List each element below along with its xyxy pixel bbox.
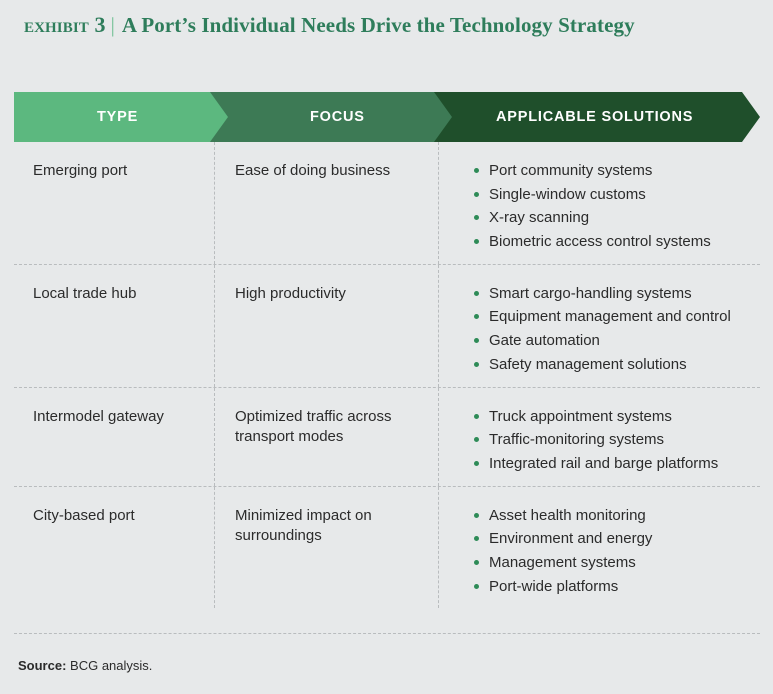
list-item: Smart cargo-handling systems	[474, 282, 752, 306]
source-note: Source: BCG analysis.	[18, 658, 152, 673]
list-item: Integrated rail and barge platforms	[474, 452, 752, 476]
title-separator: |	[111, 13, 115, 38]
column-header-type: TYPE	[14, 92, 228, 142]
cell-focus: Optimized traffic across transport modes	[214, 388, 438, 458]
cell-focus: High productivity	[214, 265, 438, 314]
cell-focus: Ease of doing business	[214, 142, 438, 191]
cell-type: City-based port	[14, 487, 214, 536]
solutions-list: Smart cargo-handling systems Equipment m…	[474, 282, 752, 377]
list-item: Biometric access control systems	[474, 230, 752, 254]
solutions-list: Truck appointment systems Traffic-monito…	[474, 405, 752, 476]
column-header-focus-label: FOCUS	[310, 109, 365, 125]
solutions-list: Port community systems Single-window cus…	[474, 159, 752, 254]
exhibit-table: Emerging port Ease of doing business Por…	[14, 142, 760, 608]
column-header-focus: FOCUS	[210, 92, 452, 142]
table-row: City-based port Minimized impact on surr…	[14, 486, 760, 609]
cell-solutions: Smart cargo-handling systems Equipment m…	[438, 265, 760, 387]
list-item: Traffic-monitoring systems	[474, 428, 752, 452]
table-row: Local trade hub High productivity Smart …	[14, 264, 760, 387]
cell-solutions: Asset health monitoring Environment and …	[438, 487, 760, 609]
list-item: Port-wide platforms	[474, 575, 752, 599]
table-row: Emerging port Ease of doing business Por…	[14, 142, 760, 264]
list-item: Equipment management and control	[474, 305, 752, 329]
list-item: Gate automation	[474, 329, 752, 353]
list-item: X-ray scanning	[474, 206, 752, 230]
list-item: Port community systems	[474, 159, 752, 183]
source-label: Source:	[18, 658, 66, 673]
list-item: Environment and energy	[474, 527, 752, 551]
cell-type: Intermodel gateway	[14, 388, 214, 437]
list-item: Safety management solutions	[474, 353, 752, 377]
source-text: BCG analysis.	[70, 658, 152, 673]
page-title: Exhibit 3|A Port’s Individual Needs Driv…	[24, 12, 635, 38]
list-item: Asset health monitoring	[474, 504, 752, 528]
exhibit-headline: A Port’s Individual Needs Drive the Tech…	[122, 13, 635, 37]
exhibit-number-label: Exhibit 3	[24, 12, 106, 37]
footer-divider	[14, 633, 760, 634]
column-header-applicable-solutions-label: APPLICABLE SOLUTIONS	[496, 109, 693, 125]
cell-type: Emerging port	[14, 142, 214, 191]
cell-solutions: Truck appointment systems Traffic-monito…	[438, 388, 760, 486]
table-header-banner: TYPE FOCUS APPLICABLE SOLUTIONS	[14, 92, 760, 142]
column-header-applicable-solutions: APPLICABLE SOLUTIONS	[434, 92, 760, 142]
list-item: Truck appointment systems	[474, 405, 752, 429]
column-header-type-label: TYPE	[97, 109, 138, 125]
cell-solutions: Port community systems Single-window cus…	[438, 142, 760, 264]
solutions-list: Asset health monitoring Environment and …	[474, 504, 752, 599]
cell-type: Local trade hub	[14, 265, 214, 314]
list-item: Management systems	[474, 551, 752, 575]
table-row: Intermodel gateway Optimized traffic acr…	[14, 387, 760, 486]
list-item: Single-window customs	[474, 183, 752, 207]
cell-focus: Minimized impact on surroundings	[214, 487, 438, 557]
